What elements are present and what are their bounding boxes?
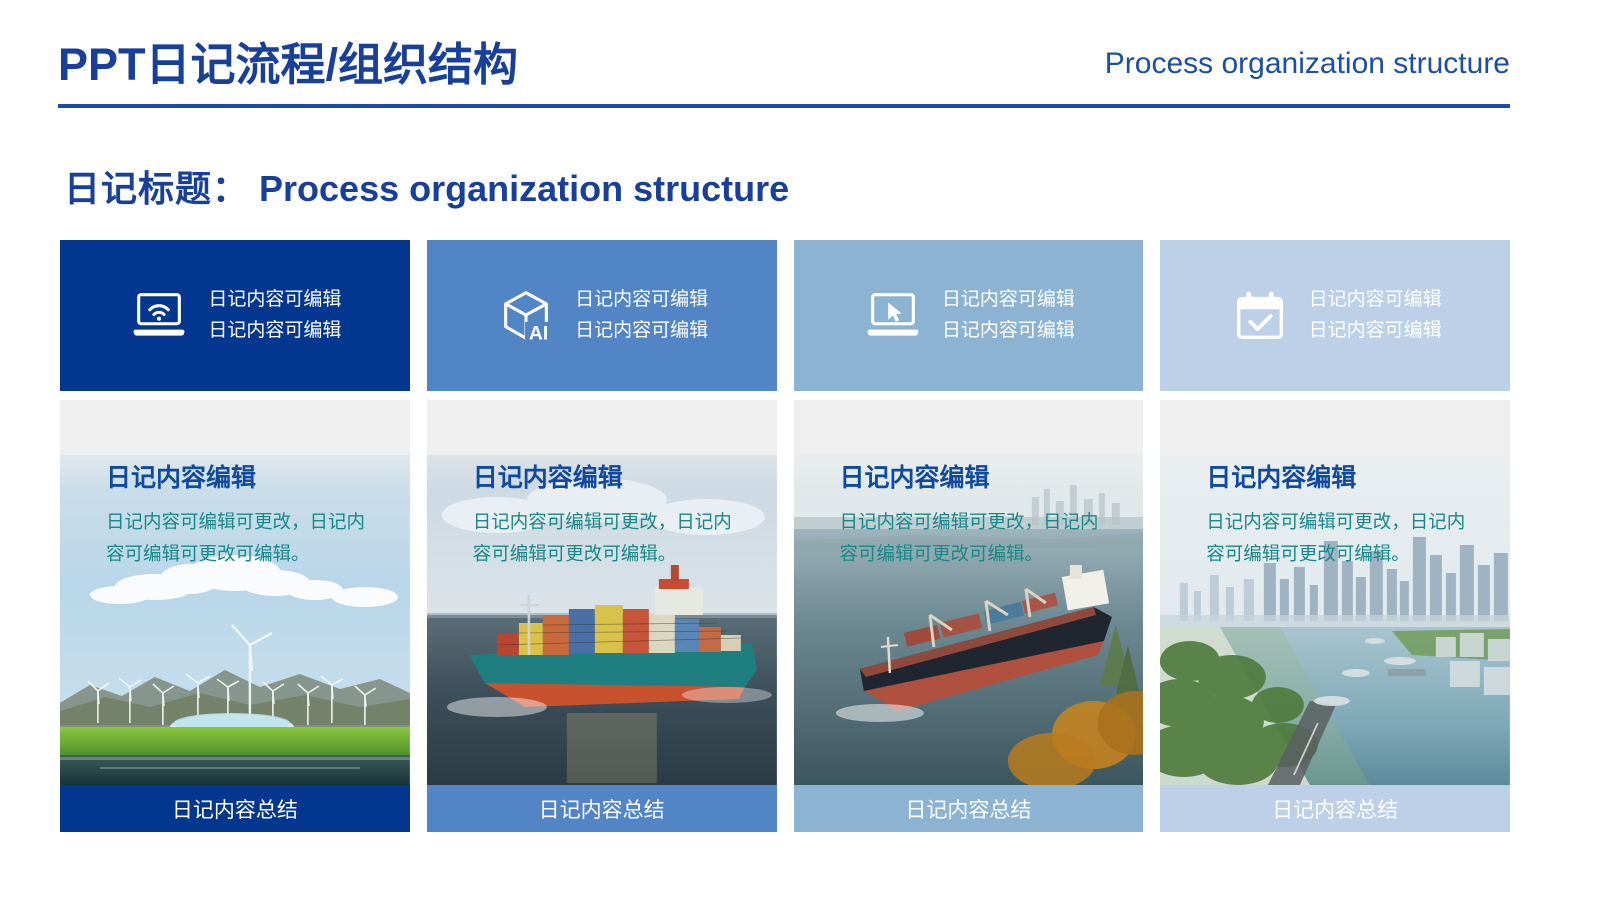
card-3-footer[interactable]: 日记内容总结	[794, 785, 1144, 832]
card-3-description: 日记内容可编辑可更改，日记内容可编辑可更改可编辑。	[840, 506, 1114, 571]
slide-header: PPT日记流程/组织结构 Process organization struct…	[0, 0, 1600, 112]
card-1-header-lines: 日记内容可编辑 日记内容可编辑	[208, 287, 341, 343]
card-1-text: 日记内容编辑 日记内容可编辑可更改，日记内容可编辑可更改可编辑。	[60, 400, 410, 571]
svg-text:AI: AI	[529, 322, 548, 344]
laptop-wifi-icon	[128, 285, 190, 347]
card-1-header-line-2: 日记内容可编辑	[208, 318, 341, 344]
card-2-description: 日记内容可编辑可更改，日记内容可编辑可更改可编辑。	[473, 506, 747, 571]
card-2-text: 日记内容编辑 日记内容可编辑可更改，日记内容可编辑可更改可编辑。	[427, 400, 777, 571]
card-1-heading: 日记内容编辑	[106, 458, 380, 494]
card-4-footer[interactable]: 日记内容总结	[1160, 785, 1510, 832]
card-1-gap	[60, 391, 410, 400]
card-4-heading: 日记内容编辑	[1206, 458, 1480, 494]
section-title: 日记标题：Process organization structure	[64, 160, 789, 212]
card-3-heading: 日记内容编辑	[840, 458, 1114, 494]
card-3-header-line-2: 日记内容可编辑	[942, 318, 1075, 344]
page-title: PPT日记流程/组织结构	[58, 28, 518, 93]
card-1-body: 日记内容编辑 日记内容可编辑可更改，日记内容可编辑可更改可编辑。	[60, 400, 410, 785]
card-4-gap	[1160, 391, 1510, 400]
card-1[interactable]: 日记内容可编辑 日记内容可编辑	[60, 240, 410, 832]
section-title-cn: 日记标题：	[64, 168, 249, 209]
card-2-header: AI 日记内容可编辑 日记内容可编辑	[427, 240, 777, 391]
card-2-header-lines: 日记内容可编辑 日记内容可编辑	[575, 287, 708, 343]
card-2[interactable]: AI 日记内容可编辑 日记内容可编辑	[427, 240, 777, 832]
card-4-header-line-1: 日记内容可编辑	[1309, 287, 1442, 313]
card-3-header: 日记内容可编辑 日记内容可编辑	[794, 240, 1144, 391]
card-1-description: 日记内容可编辑可更改，日记内容可编辑可更改可编辑。	[106, 506, 380, 571]
card-4-text: 日记内容编辑 日记内容可编辑可更改，日记内容可编辑可更改可编辑。	[1160, 400, 1510, 571]
card-1-header: 日记内容可编辑 日记内容可编辑	[60, 240, 410, 391]
card-1-header-line-1: 日记内容可编辑	[208, 287, 341, 313]
section-title-en: Process organization structure	[259, 168, 789, 209]
card-2-gap	[427, 391, 777, 400]
card-grid: 日记内容可编辑 日记内容可编辑	[60, 240, 1510, 832]
card-2-footer[interactable]: 日记内容总结	[427, 785, 777, 832]
card-1-footer[interactable]: 日记内容总结	[60, 785, 410, 832]
card-4-header: 日记内容可编辑 日记内容可编辑	[1160, 240, 1510, 391]
card-3-header-line-1: 日记内容可编辑	[942, 287, 1075, 313]
card-3-body: 日记内容编辑 日记内容可编辑可更改，日记内容可编辑可更改可编辑。	[794, 400, 1144, 785]
laptop-cursor-icon	[862, 285, 924, 347]
card-3[interactable]: 日记内容可编辑 日记内容可编辑	[794, 240, 1144, 832]
page-subtitle: Process organization structure	[1105, 47, 1510, 81]
card-4-header-lines: 日记内容可编辑 日记内容可编辑	[1309, 287, 1442, 343]
card-4-description: 日记内容可编辑可更改，日记内容可编辑可更改可编辑。	[1206, 506, 1480, 571]
card-3-text: 日记内容编辑 日记内容可编辑可更改，日记内容可编辑可更改可编辑。	[794, 400, 1144, 571]
card-2-header-line-2: 日记内容可编辑	[575, 318, 708, 344]
calendar-check-icon	[1229, 285, 1291, 347]
ai-cube-icon: AI	[495, 285, 557, 347]
card-3-gap	[794, 391, 1144, 400]
header-divider	[58, 104, 1510, 108]
card-2-heading: 日记内容编辑	[473, 458, 747, 494]
card-2-body: 日记内容编辑 日记内容可编辑可更改，日记内容可编辑可更改可编辑。	[427, 400, 777, 785]
card-2-header-line-1: 日记内容可编辑	[575, 287, 708, 313]
card-3-header-lines: 日记内容可编辑 日记内容可编辑	[942, 287, 1075, 343]
card-4-body: 日记内容编辑 日记内容可编辑可更改，日记内容可编辑可更改可编辑。	[1160, 400, 1510, 785]
card-4[interactable]: 日记内容可编辑 日记内容可编辑	[1160, 240, 1510, 832]
card-4-header-line-2: 日记内容可编辑	[1309, 318, 1442, 344]
